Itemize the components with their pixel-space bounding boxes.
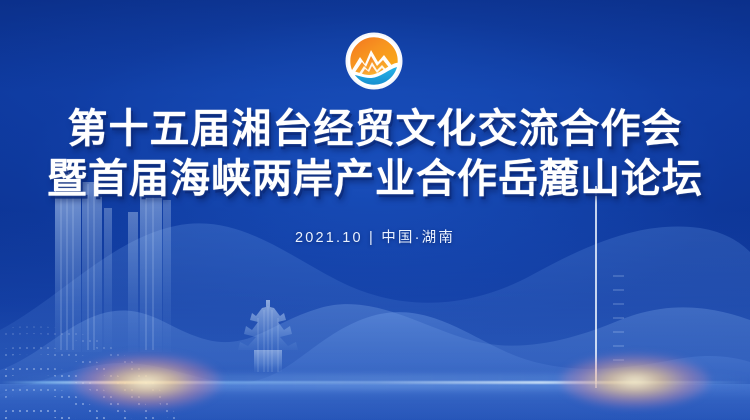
page-title-line-1: 第十五届湘台经贸文化交流合作会 [0, 104, 750, 154]
conference-banner: 第十五届湘台经贸文化交流合作会 暨首届海峡两岸产业合作岳麓山论坛 2021.10… [0, 0, 750, 420]
horizon-light-band [0, 381, 750, 384]
page-title-line-2: 暨首届海峡两岸产业合作岳麓山论坛 [0, 154, 750, 204]
mountain-water-circle-logo [344, 31, 404, 91]
event-date-location: 2021.10 | 中国·湖南 [0, 226, 750, 247]
banner-text-block: 第十五届湘台经贸文化交流合作会 暨首届海峡两岸产业合作岳麓山论坛 2021.10… [0, 104, 750, 247]
